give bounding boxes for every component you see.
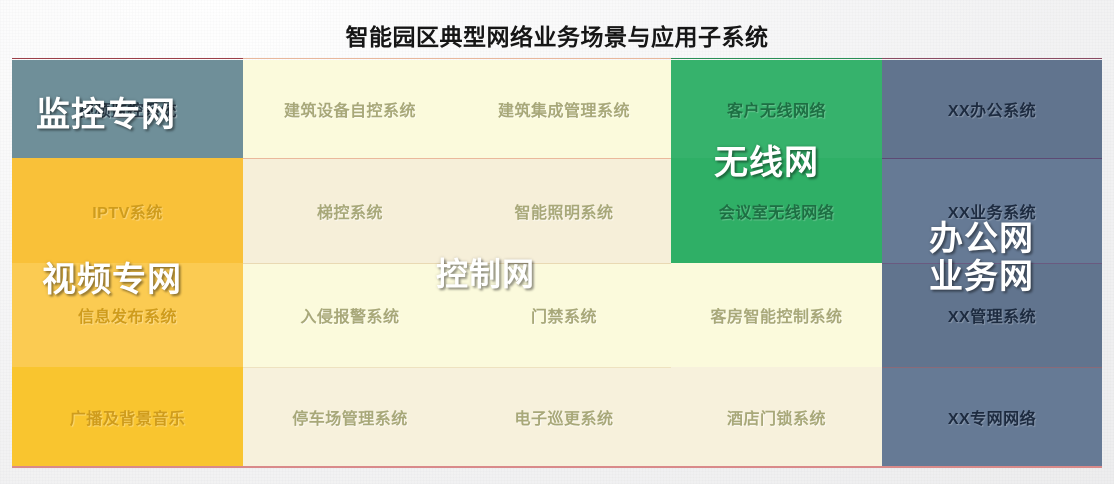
cell-label: 酒店门锁系统 <box>727 405 826 429</box>
cell-hotel-door-lock[interactable]: 酒店门锁系统 <box>671 367 882 466</box>
cell-intelligent-lighting[interactable]: 智能照明系统 <box>457 158 671 263</box>
cell-intrusion-alarm[interactable]: 入侵报警系统 <box>243 263 457 367</box>
cell-label: IPTV系统 <box>92 199 163 223</box>
cell-label: XX专网网络 <box>948 405 1036 429</box>
cell-iptv[interactable]: IPTV系统 <box>12 158 243 263</box>
overlay-monitoring-network: 监控专网 <box>36 98 176 133</box>
cell-label: XX业务系统 <box>948 199 1036 223</box>
column-control-left: 建筑设备自控系统 梯控系统 入侵报警系统 停车场管理系统 <box>243 60 457 466</box>
column-wireless: 客户无线网络 会议室无线网络 客房智能控制系统 酒店门锁系统 <box>671 60 882 466</box>
cell-label: 入侵报警系统 <box>300 303 399 327</box>
cell-label: 建筑集成管理系统 <box>498 97 630 121</box>
cell-label: 信息发布系统 <box>78 303 177 327</box>
overlay-wireless-network: 无线网 <box>714 146 819 181</box>
cell-xx-office-system[interactable]: XX办公系统 <box>882 60 1102 158</box>
cell-building-integration-management[interactable]: 建筑集成管理系统 <box>457 60 671 158</box>
overlay-control-network: 控制网 <box>436 258 535 291</box>
cell-elevator-control[interactable]: 梯控系统 <box>243 158 457 263</box>
cell-label: 电子巡更系统 <box>514 405 613 429</box>
overlay-office-network: 办公网 <box>929 222 1034 257</box>
cell-label: 会议室无线网络 <box>719 199 835 223</box>
cell-xx-private-network[interactable]: XX专网网络 <box>882 367 1102 466</box>
cell-parking-management[interactable]: 停车场管理系统 <box>243 367 457 466</box>
cell-label: 停车场管理系统 <box>292 405 408 429</box>
cell-label: 智能照明系统 <box>514 199 613 223</box>
cell-label: XX管理系统 <box>948 303 1036 327</box>
cell-label: 客房智能控制系统 <box>710 303 842 327</box>
cell-guestroom-intelligent-control[interactable]: 客房智能控制系统 <box>671 263 882 367</box>
cell-broadcast-background-music[interactable]: 广播及背景音乐 <box>12 367 243 466</box>
cell-label: 梯控系统 <box>317 199 383 223</box>
cell-building-equipment-automation[interactable]: 建筑设备自控系统 <box>243 60 457 158</box>
cell-label: 建筑设备自控系统 <box>284 97 416 121</box>
page-title: 智能园区典型网络业务场景与应用子系统 <box>0 18 1114 52</box>
cell-electronic-patrol[interactable]: 电子巡更系统 <box>457 367 671 466</box>
overlay-business-network: 业务网 <box>929 260 1034 295</box>
cell-label: 广播及背景音乐 <box>70 405 186 429</box>
overlay-video-network: 视频专网 <box>42 263 182 298</box>
cell-label: 门禁系统 <box>531 303 597 327</box>
cell-label: XX办公系统 <box>948 97 1036 121</box>
cell-label: 客户无线网络 <box>727 97 826 121</box>
